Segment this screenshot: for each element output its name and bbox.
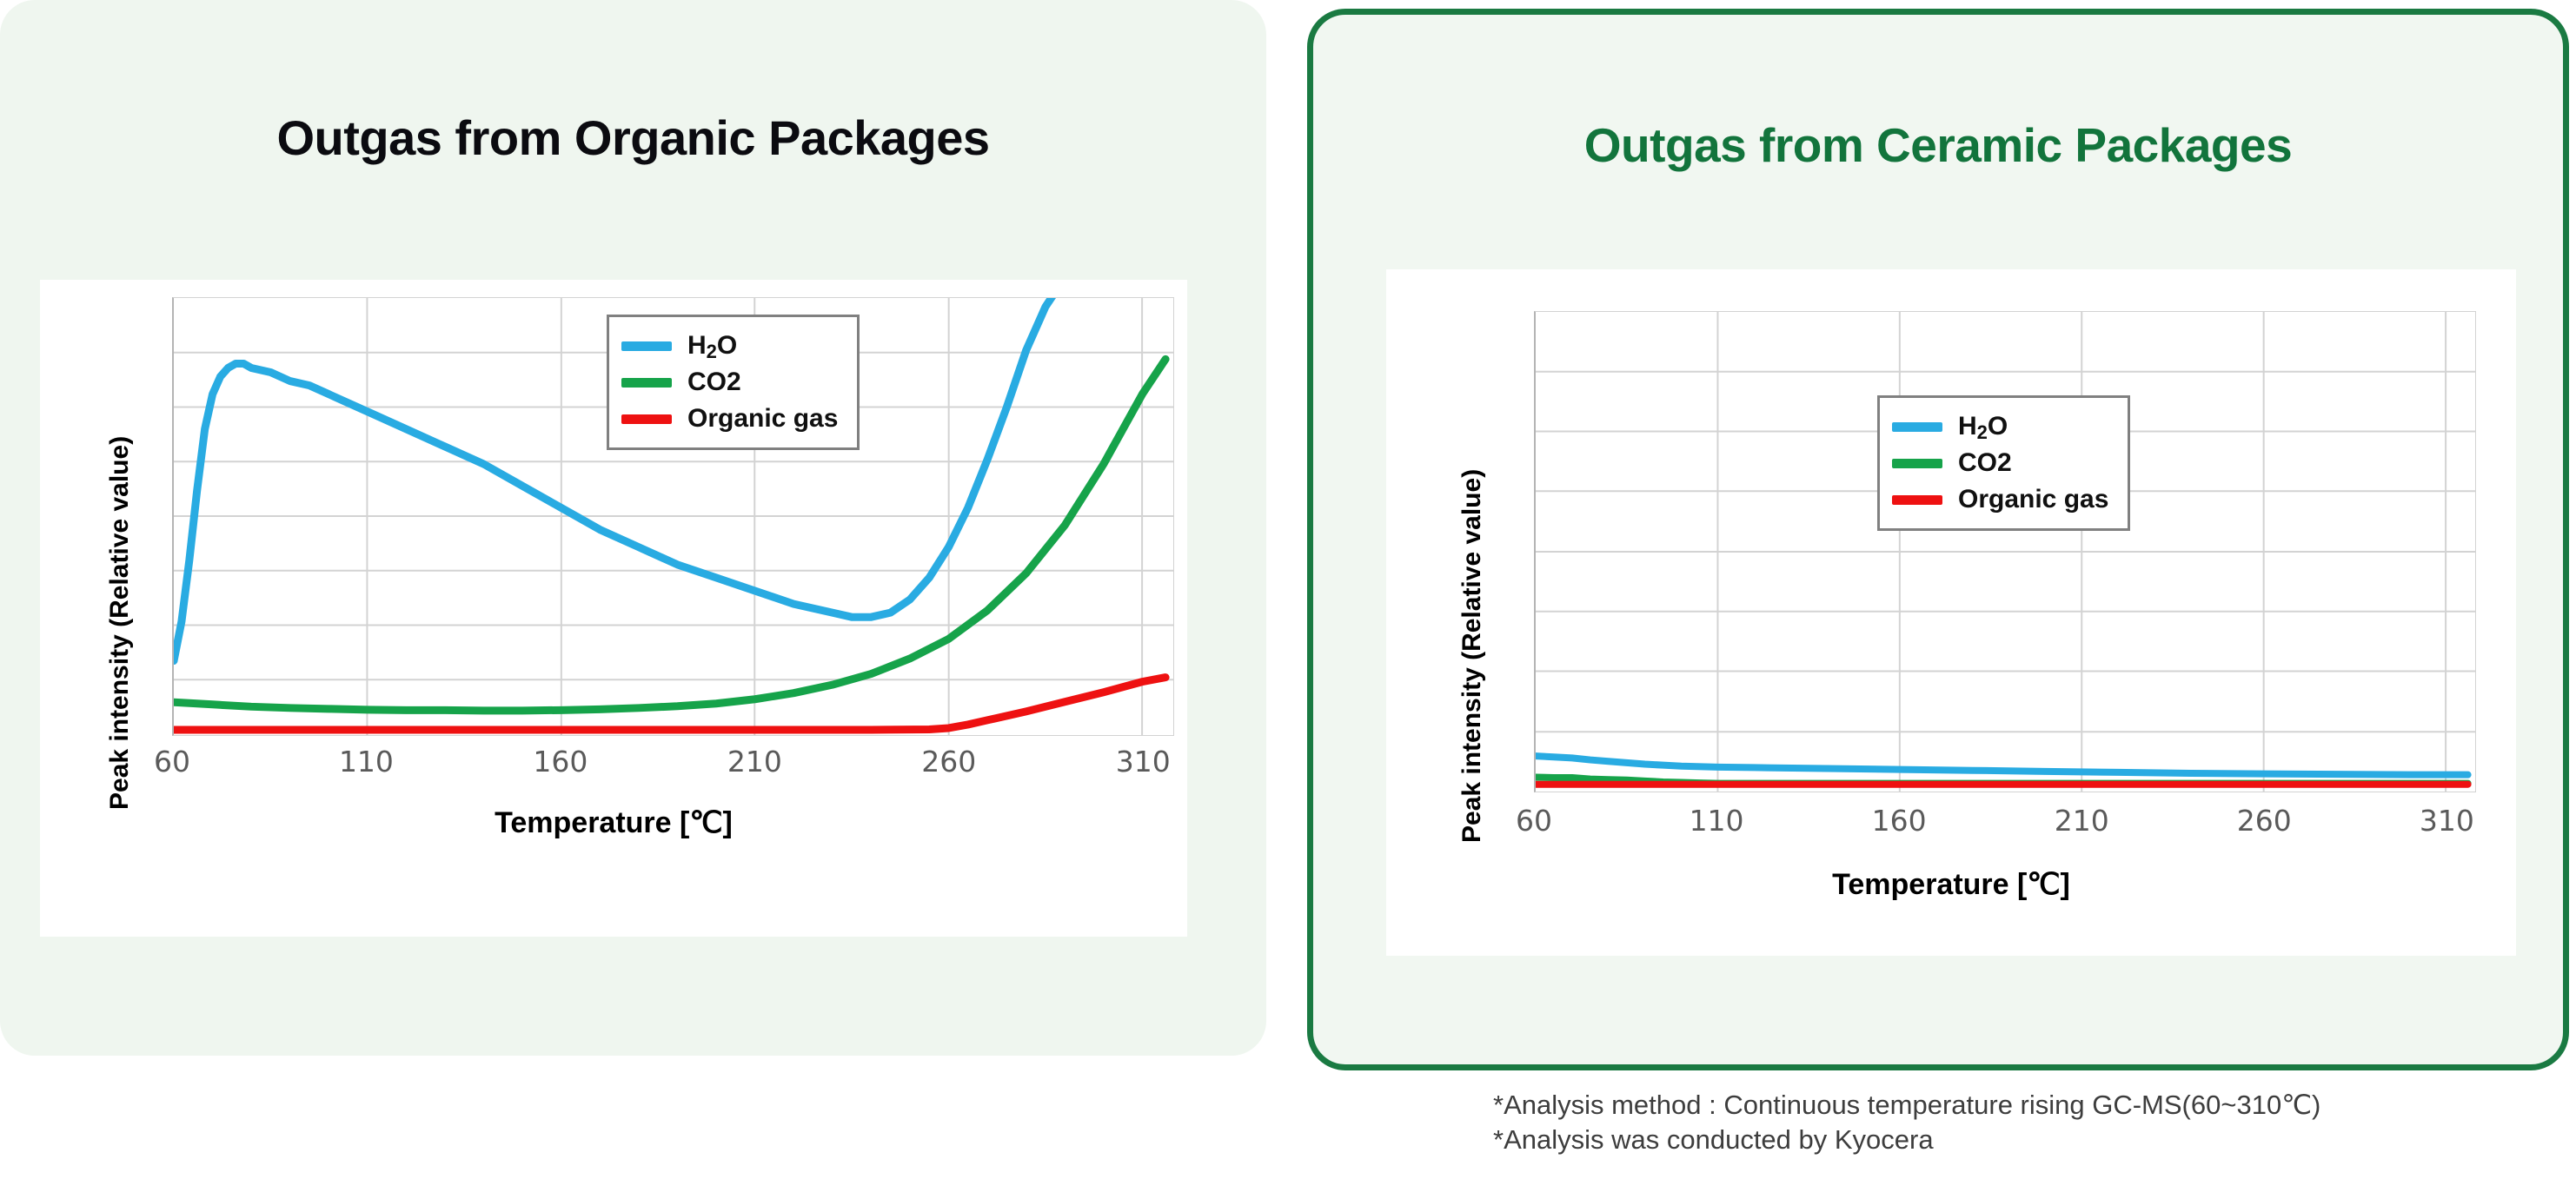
x-tick-110: 110 xyxy=(339,745,394,779)
line-swatch-blue-icon xyxy=(621,341,672,351)
legend-label-organic-gas: Organic gas xyxy=(1958,485,2108,514)
legend-item-organic-gas[interactable]: Organic gas xyxy=(621,401,838,437)
figure-ceramic: Peak intensity (Relative value) xyxy=(1386,269,2516,956)
x-tick-210: 210 xyxy=(2055,804,2109,838)
footnotes-block: *Analysis method : Continuous temperatur… xyxy=(1493,1088,2571,1156)
x-tick-210: 210 xyxy=(727,745,782,779)
x-tick-160: 160 xyxy=(1872,804,1927,838)
line-swatch-green-icon xyxy=(621,378,672,388)
legend-label-h2o: H2O xyxy=(1958,412,2008,441)
plot-area-ceramic xyxy=(1534,311,2476,792)
legend-item-co2[interactable]: CO2 xyxy=(621,364,838,401)
legend-item-h2o[interactable]: H2O xyxy=(621,328,838,364)
line-swatch-green-icon xyxy=(1892,459,1942,468)
series-paths-ceramic xyxy=(1536,756,2468,785)
line-swatch-blue-icon xyxy=(1892,422,1942,432)
x-axis-ticks-organic: 60110160210260310 xyxy=(172,745,1174,779)
x-axis-label-ceramic: Temperature [℃] xyxy=(1386,867,2516,902)
legend-item-co2[interactable]: CO2 xyxy=(1892,445,2108,481)
legend-label-co2: CO2 xyxy=(687,368,741,397)
line-swatch-red-icon xyxy=(1892,495,1942,505)
y-axis-label-organic: Peak intensity (Relative value) xyxy=(105,436,135,810)
legend-label-h2o: H2O xyxy=(687,331,737,361)
plot-svg-ceramic xyxy=(1536,312,2475,792)
series-line-h2o xyxy=(1536,756,2468,775)
x-tick-260: 260 xyxy=(921,745,976,779)
legend-organic: H2O CO2 Organic gas xyxy=(607,315,860,450)
x-tick-260: 260 xyxy=(2237,804,2292,838)
x-tick-110: 110 xyxy=(1690,804,1744,838)
footnote-analysis-by: *Analysis was conducted by Kyocera xyxy=(1493,1123,2571,1157)
page-title-organic: Outgas from Organic Packages xyxy=(0,109,1266,166)
slide-root: Outgas from Organic Packages Peak intens… xyxy=(0,0,2576,1186)
x-tick-60: 60 xyxy=(1516,804,1552,838)
legend-item-h2o[interactable]: H2O xyxy=(1892,408,2108,445)
x-axis-ticks-ceramic: 60110160210260310 xyxy=(1534,804,2476,838)
gridlines-ceramic xyxy=(1536,312,2475,792)
x-tick-60: 60 xyxy=(154,745,190,779)
legend-item-organic-gas[interactable]: Organic gas xyxy=(1892,481,2108,518)
figure-organic: Peak intensity (Relative value) xyxy=(40,280,1187,937)
x-tick-310: 310 xyxy=(1116,745,1171,779)
legend-label-co2: CO2 xyxy=(1958,448,2012,478)
footnote-analysis-method: *Analysis method : Continuous temperatur… xyxy=(1493,1088,2571,1123)
x-axis-label-organic: Temperature [℃] xyxy=(40,805,1187,840)
x-tick-160: 160 xyxy=(533,745,588,779)
legend-ceramic: H2O CO2 Organic gas xyxy=(1877,395,2130,531)
chart-card-organic: Peak intensity (Relative value) xyxy=(40,280,1187,937)
chart-card-ceramic: Peak intensity (Relative value) xyxy=(1386,269,2516,956)
page-title-ceramic: Outgas from Ceramic Packages xyxy=(1313,117,2563,173)
x-tick-310: 310 xyxy=(2420,804,2474,838)
y-axis-label-ceramic: Peak intensity (Relative value) xyxy=(1457,469,1487,843)
line-swatch-red-icon xyxy=(621,414,672,424)
legend-label-organic-gas: Organic gas xyxy=(687,404,838,434)
